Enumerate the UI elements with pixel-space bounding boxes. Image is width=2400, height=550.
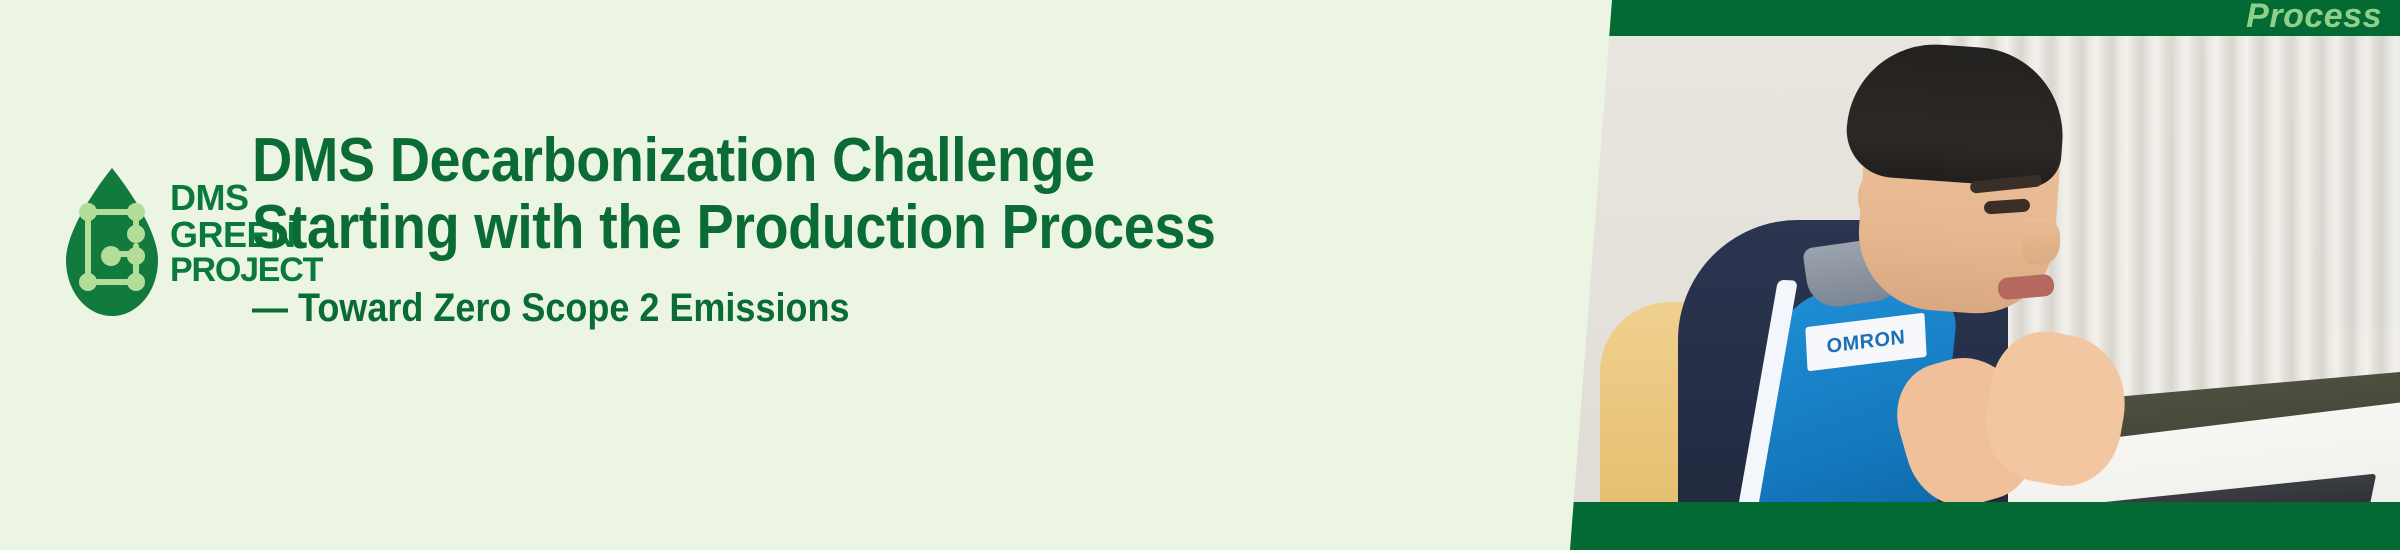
headline-line-2: Starting with the Production Process [252,195,1458,262]
page-banner: DMS GREEN PROJECT DMS Decarbonization Ch… [0,0,2400,550]
banner-left-content: DMS GREEN PROJECT DMS Decarbonization Ch… [0,0,1640,550]
photo-person-nose [2022,218,2060,264]
hero-photo: OMRON [1570,0,2400,550]
leaf-circuit-icon [62,168,162,318]
headline-line-1: DMS Decarbonization Challenge [252,128,1458,195]
headline-subtitle: — Toward Zero Scope 2 Emissions [252,286,1458,330]
photo-top-green-bar: Process [1570,0,2400,36]
hero-photo-panel: OMRON Process [1570,0,2400,550]
category-label: Process [2246,0,2382,34]
headline-block: DMS Decarbonization Challenge Starting w… [252,128,1592,330]
brand-logo: DMS GREEN PROJECT [62,168,252,358]
photo-bottom-green-bar [1570,502,2400,550]
